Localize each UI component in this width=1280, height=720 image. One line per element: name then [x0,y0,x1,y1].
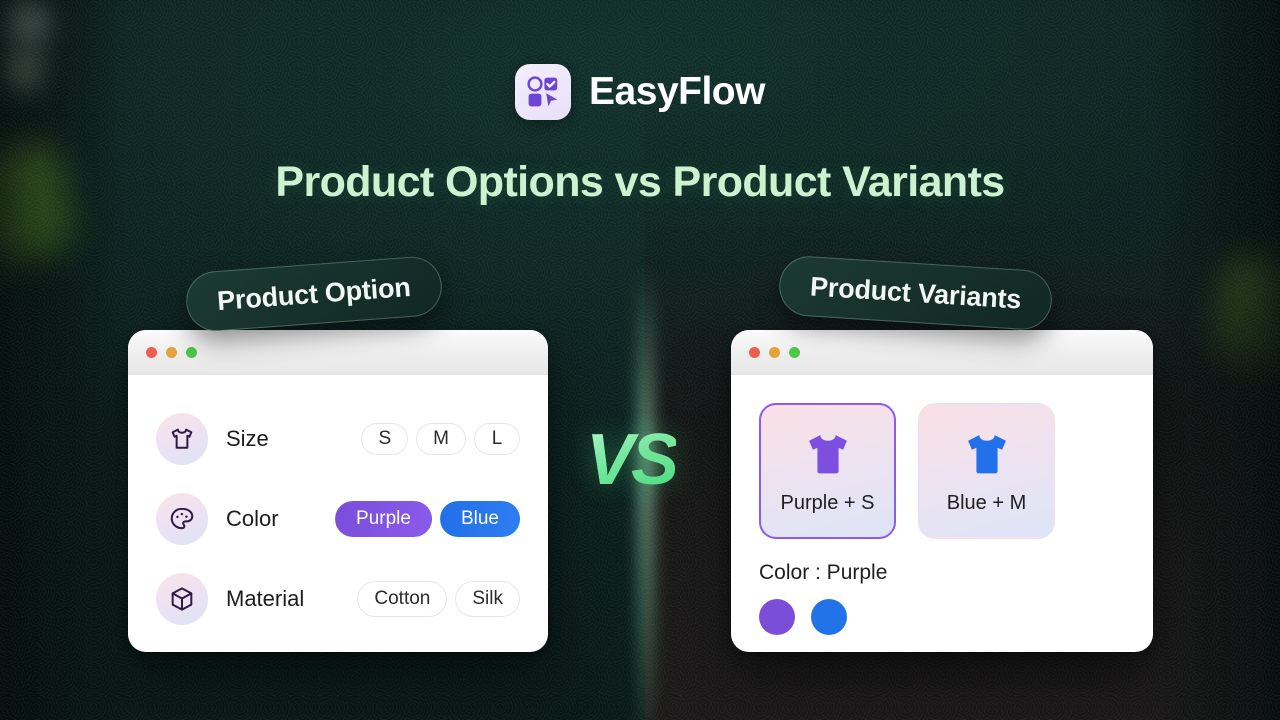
value-pill-silk[interactable]: Silk [455,581,520,617]
page-title: Product Options vs Product Variants [0,158,1280,207]
tshirt-icon [156,413,208,465]
brand-header: EasyFlow [0,64,1280,120]
minimize-icon[interactable] [769,347,780,358]
value-pill-l[interactable]: L [474,423,520,455]
variant-label-blue-m: Blue + M [947,492,1026,515]
variant-color-swatches [759,599,1125,635]
maximize-icon[interactable] [186,347,197,358]
brand-name: EasyFlow [589,70,765,114]
product-option-list: Size S M L Color [128,375,548,639]
product-variants-window: Purple + S Blue + M Color : Purple [731,330,1153,652]
variant-tile-list: Purple + S Blue + M [759,399,1125,539]
cube-icon [156,573,208,625]
option-row-size: Size S M L [156,399,520,479]
variant-color-meta: Color : Purple [759,561,1125,635]
product-option-window: Size S M L Color [128,330,548,652]
tshirt-icon [960,427,1014,486]
close-icon[interactable] [749,347,760,358]
option-label-color: Color [226,506,279,532]
minimize-icon[interactable] [166,347,177,358]
option-values-size: S M L [361,423,520,455]
palette-icon [156,493,208,545]
close-icon[interactable] [146,347,157,358]
value-pill-s[interactable]: S [361,423,408,455]
versus-label: VS [586,424,676,496]
option-row-color: Color Purple Blue [156,479,520,559]
variant-color-label: Color : Purple [759,561,1125,585]
purple-swatch[interactable] [759,599,795,635]
blue-swatch[interactable] [811,599,847,635]
window-titlebar-left [128,330,548,375]
value-pill-cotton[interactable]: Cotton [357,581,447,617]
option-values-material: Cotton Silk [357,581,520,617]
option-row-material: Material Cotton Silk [156,559,520,639]
window-titlebar-right [731,330,1153,375]
option-values-color: Purple Blue [335,501,520,537]
option-label-size: Size [226,426,269,452]
variant-tile-purple-s[interactable]: Purple + S [759,403,896,539]
value-pill-m[interactable]: M [416,423,466,455]
value-pill-blue[interactable]: Blue [440,501,520,537]
option-label-material: Material [226,586,304,612]
variant-tile-blue-m[interactable]: Blue + M [918,403,1055,539]
maximize-icon[interactable] [789,347,800,358]
slide-canvas: EasyFlow Product Options vs Product Vari… [0,0,1280,720]
easyflow-logo-icon [515,64,571,120]
product-variants-content: Purple + S Blue + M Color : Purple [731,375,1153,635]
value-pill-purple[interactable]: Purple [335,501,432,537]
tshirt-icon [801,427,855,486]
variant-label-purple-s: Purple + S [781,492,875,515]
